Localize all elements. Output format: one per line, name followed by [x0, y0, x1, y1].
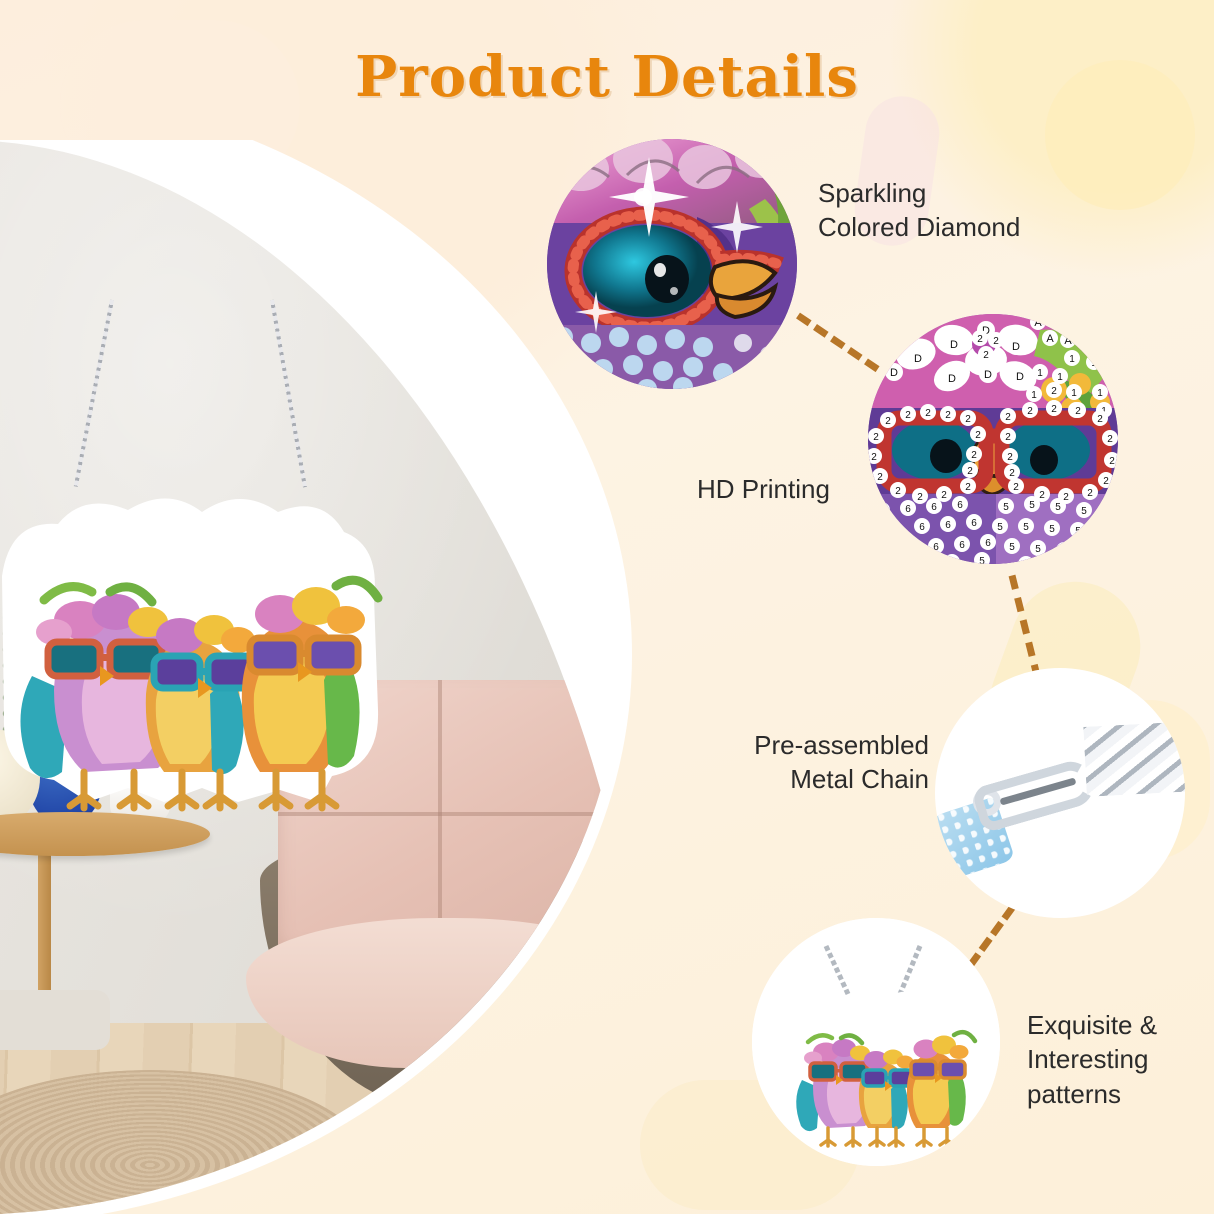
- svg-text:2: 2: [1039, 490, 1045, 501]
- svg-text:D: D: [914, 353, 922, 365]
- svg-text:1: 1: [1057, 372, 1063, 383]
- feature-circle-metal-chain: [935, 668, 1185, 918]
- svg-text:6: 6: [931, 502, 937, 513]
- svg-text:5: 5: [1003, 502, 1009, 513]
- svg-text:5: 5: [1009, 542, 1015, 553]
- svg-text:2: 2: [1109, 456, 1115, 467]
- svg-text:2: 2: [895, 486, 901, 497]
- svg-text:2: 2: [967, 466, 973, 477]
- page-title: Product Details: [0, 44, 1214, 110]
- svg-text:6: 6: [905, 504, 911, 515]
- svg-text:6: 6: [945, 520, 951, 531]
- svg-text:5: 5: [1023, 522, 1029, 533]
- svg-text:2: 2: [965, 482, 971, 493]
- svg-text:6: 6: [971, 518, 977, 529]
- svg-text:2: 2: [975, 430, 981, 441]
- feature-label-patterns: Exquisite & Interesting patterns: [1027, 1008, 1157, 1111]
- feature-circle-hd-printing: D D D D D D D D 2 2 2 A A A A: [868, 314, 1118, 564]
- svg-text:5: 5: [1055, 502, 1061, 513]
- svg-text:2: 2: [1007, 452, 1013, 463]
- svg-text:D: D: [1012, 341, 1020, 353]
- svg-text:A: A: [1046, 333, 1054, 345]
- svg-text:2: 2: [971, 450, 977, 461]
- svg-text:2: 2: [1009, 468, 1015, 479]
- svg-text:2: 2: [1075, 406, 1081, 417]
- svg-text:2: 2: [1005, 412, 1011, 423]
- table-base: [0, 990, 110, 1050]
- svg-text:1: 1: [1097, 388, 1103, 399]
- svg-text:2: 2: [1087, 488, 1093, 499]
- svg-text:6: 6: [919, 522, 925, 533]
- svg-text:5: 5: [1029, 500, 1035, 511]
- svg-text:D: D: [1016, 371, 1024, 383]
- chain-right: [270, 300, 307, 488]
- svg-text:5: 5: [1081, 506, 1087, 517]
- svg-text:2: 2: [1097, 414, 1103, 425]
- svg-text:6: 6: [957, 500, 963, 511]
- chain-left: [74, 300, 114, 487]
- svg-text:D: D: [948, 373, 956, 385]
- metal-chain-links: [1083, 721, 1185, 797]
- svg-text:5: 5: [1035, 544, 1041, 555]
- hanging-suncatcher: [0, 290, 400, 830]
- svg-text:D: D: [984, 369, 992, 381]
- svg-text:D: D: [890, 367, 898, 379]
- three-birds-artwork: [0, 480, 388, 820]
- svg-text:2: 2: [941, 490, 947, 501]
- svg-text:5: 5: [1049, 524, 1055, 535]
- svg-text:6: 6: [985, 538, 991, 549]
- svg-text:2: 2: [945, 410, 951, 421]
- svg-text:2: 2: [917, 492, 923, 503]
- svg-text:2: 2: [877, 472, 883, 483]
- svg-text:2: 2: [925, 408, 931, 419]
- svg-text:2: 2: [1051, 386, 1057, 397]
- feature-label-hd-printing: HD Printing: [697, 472, 830, 506]
- svg-text:2: 2: [1013, 482, 1019, 493]
- svg-text:2: 2: [993, 336, 999, 347]
- svg-text:2: 2: [871, 452, 877, 463]
- svg-text:2: 2: [983, 350, 989, 361]
- svg-text:2: 2: [1027, 406, 1033, 417]
- infographic-canvas: Product Details: [0, 0, 1214, 1214]
- svg-text:2: 2: [885, 416, 891, 427]
- svg-text:2: 2: [1051, 404, 1057, 415]
- svg-text:2: 2: [1005, 432, 1011, 443]
- feature-circle-sparkling-diamond: [547, 139, 797, 389]
- svg-text:1: 1: [1071, 388, 1077, 399]
- svg-text:5: 5: [997, 522, 1003, 533]
- table-leg: [38, 846, 51, 1006]
- svg-text:2: 2: [873, 432, 879, 443]
- feature-label-sparkling-diamond: Sparkling Colored Diamond: [818, 176, 1020, 245]
- svg-text:1: 1: [1037, 368, 1043, 379]
- svg-text:1: 1: [1031, 390, 1037, 401]
- svg-text:2: 2: [1103, 476, 1109, 487]
- feature-label-metal-chain: Pre-assembled Metal Chain: [733, 728, 929, 797]
- bird-plaque: [0, 480, 388, 820]
- svg-text:2: 2: [965, 414, 971, 425]
- svg-text:1: 1: [1069, 354, 1075, 365]
- svg-text:5: 5: [979, 556, 985, 564]
- svg-text:2: 2: [1107, 434, 1113, 445]
- svg-text:2: 2: [977, 334, 983, 345]
- svg-text:2: 2: [905, 410, 911, 421]
- svg-text:6: 6: [959, 540, 965, 551]
- svg-text:D: D: [950, 339, 958, 351]
- feature-circle-patterns: [752, 918, 1000, 1166]
